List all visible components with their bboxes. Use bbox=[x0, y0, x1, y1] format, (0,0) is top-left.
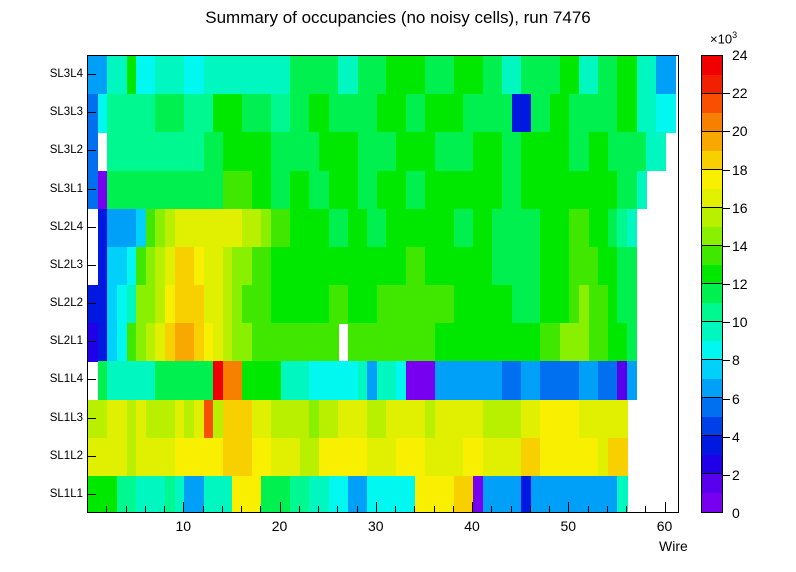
color-scale-tick bbox=[723, 284, 730, 285]
heatmap-cell bbox=[627, 361, 637, 400]
x-axis-tick-label: 10 bbox=[175, 518, 191, 534]
x-axis-major-tick bbox=[665, 502, 666, 513]
x-axis-minor-tick bbox=[530, 506, 531, 513]
color-scale-bar bbox=[701, 55, 723, 513]
heatmap-cell bbox=[666, 94, 676, 133]
color-scale-tick bbox=[723, 399, 730, 400]
y-axis-labels: SL3L4SL3L3SL3L2SL3L1SL2L4SL2L3SL2L2SL2L1… bbox=[0, 0, 83, 572]
color-scale-segment bbox=[702, 170, 722, 190]
color-scale-tick-label: 14 bbox=[732, 238, 748, 254]
x-axis-minor-tick bbox=[453, 506, 454, 513]
x-axis-minor-tick bbox=[414, 506, 415, 513]
color-scale-segment bbox=[702, 493, 722, 513]
color-scale-tick bbox=[723, 131, 730, 132]
y-axis-tick bbox=[87, 74, 96, 75]
color-scale-tick bbox=[723, 322, 730, 323]
x-axis-tick-label: 30 bbox=[368, 518, 384, 534]
y-axis-tick-label: SL2L1 bbox=[50, 335, 83, 347]
x-axis-tick-label: 50 bbox=[561, 518, 577, 534]
color-scale-tick-label: 22 bbox=[732, 85, 748, 101]
color-scale-divider bbox=[702, 245, 722, 246]
heatmap-plot-area[interactable] bbox=[87, 55, 679, 513]
x-axis-minor-tick bbox=[222, 506, 223, 513]
color-scale-segment bbox=[702, 303, 722, 323]
color-scale-tick-label: 10 bbox=[732, 314, 748, 330]
heatmap-cell bbox=[627, 285, 637, 324]
y-axis-tick-label: SL1L4 bbox=[50, 373, 83, 385]
x-axis-minor-tick bbox=[491, 506, 492, 513]
root-canvas: Summary of occupancies (no noisy cells),… bbox=[0, 0, 796, 572]
page-title: Summary of occupancies (no noisy cells),… bbox=[0, 8, 796, 28]
x-axis-minor-tick bbox=[164, 506, 165, 513]
color-scale-tick-label: 20 bbox=[732, 123, 748, 139]
y-axis-tick bbox=[87, 112, 96, 113]
color-scale-tick-label: 18 bbox=[732, 162, 748, 178]
color-scale-segment bbox=[702, 132, 722, 152]
heatmap-cell bbox=[666, 56, 676, 95]
x-axis-minor-tick bbox=[337, 506, 338, 513]
y-axis-tick bbox=[87, 189, 96, 190]
color-scale-exponent: ×103 bbox=[710, 30, 737, 46]
color-scale-tick-label: 8 bbox=[732, 352, 740, 368]
color-scale-segment bbox=[702, 322, 722, 342]
color-scale-segment bbox=[702, 398, 722, 418]
color-scale-segment bbox=[702, 341, 722, 361]
x-axis-tick-label: 20 bbox=[272, 518, 288, 534]
x-axis-title: Wire bbox=[659, 538, 688, 554]
heatmap-cell bbox=[656, 132, 666, 171]
color-scale-segment bbox=[702, 227, 722, 247]
color-scale-divider bbox=[702, 359, 722, 360]
x-axis-tick-label: 40 bbox=[464, 518, 480, 534]
y-axis-tick bbox=[87, 379, 96, 380]
x-axis-minor-tick bbox=[299, 506, 300, 513]
heatmap-cell bbox=[637, 171, 647, 210]
y-axis-tick bbox=[87, 418, 96, 419]
color-scale-segment bbox=[702, 56, 722, 76]
color-scale-tick-label: 4 bbox=[732, 429, 740, 445]
y-axis-tick-label: SL2L2 bbox=[50, 297, 83, 309]
color-scale-segment bbox=[702, 151, 722, 171]
color-scale-tick-label: 24 bbox=[732, 47, 748, 63]
color-scale-divider bbox=[702, 283, 722, 284]
color-scale-tick-label: 12 bbox=[732, 276, 748, 292]
color-scale-divider bbox=[702, 473, 722, 474]
x-axis-minor-tick bbox=[588, 506, 589, 513]
color-scale-tick bbox=[723, 437, 730, 438]
heatmap-cell bbox=[627, 323, 637, 362]
heatmap-cells bbox=[88, 56, 678, 512]
x-axis-minor-tick bbox=[203, 506, 204, 513]
y-axis-tick bbox=[87, 341, 96, 342]
color-scale-tick bbox=[723, 475, 730, 476]
color-scale-segment bbox=[702, 436, 722, 456]
x-axis-minor-tick bbox=[145, 506, 146, 513]
y-axis-tick bbox=[87, 227, 96, 228]
color-scale-segment bbox=[702, 379, 722, 399]
y-axis-tick bbox=[87, 303, 96, 304]
color-scale-divider bbox=[702, 169, 722, 170]
color-scale-tick-label: 0 bbox=[732, 505, 740, 521]
x-axis-major-tick bbox=[472, 502, 473, 513]
x-axis-minor-tick bbox=[434, 506, 435, 513]
heatmap-cell bbox=[627, 209, 637, 248]
color-scale-tick-label: 2 bbox=[732, 467, 740, 483]
color-scale-segment bbox=[702, 113, 722, 133]
y-axis-tick bbox=[87, 456, 96, 457]
heatmap-cell bbox=[617, 400, 627, 439]
color-scale-divider bbox=[702, 435, 722, 436]
color-scale-tick bbox=[723, 208, 730, 209]
color-scale-segment bbox=[702, 265, 722, 285]
x-axis-major-tick bbox=[183, 502, 184, 513]
x-axis-major-tick bbox=[280, 502, 281, 513]
y-axis-tick bbox=[87, 494, 96, 495]
y-axis-tick bbox=[87, 150, 96, 151]
heatmap-cell bbox=[617, 438, 627, 477]
y-axis-tick-label: SL1L2 bbox=[50, 450, 83, 462]
y-axis-tick-label: SL3L2 bbox=[50, 144, 83, 156]
y-axis-tick-label: SL3L3 bbox=[50, 106, 83, 118]
x-axis-minor-tick bbox=[106, 506, 107, 513]
y-axis-tick-label: SL2L3 bbox=[50, 259, 83, 271]
color-scale-divider bbox=[702, 131, 722, 132]
x-axis-minor-tick bbox=[607, 506, 608, 513]
color-scale-tick-label: 6 bbox=[732, 391, 740, 407]
y-axis-tick-label: SL3L4 bbox=[50, 68, 83, 80]
x-axis-minor-tick bbox=[241, 506, 242, 513]
y-axis-tick-label: SL2L4 bbox=[50, 221, 83, 233]
color-scale-divider bbox=[702, 397, 722, 398]
x-axis-tick-label: 60 bbox=[657, 518, 673, 534]
color-scale-segment bbox=[702, 208, 722, 228]
x-axis-minor-tick bbox=[395, 506, 396, 513]
color-scale-tick bbox=[723, 93, 730, 94]
x-axis-minor-tick bbox=[626, 506, 627, 513]
color-scale-segment bbox=[702, 284, 722, 304]
x-axis-minor-tick bbox=[549, 506, 550, 513]
x-axis-minor-tick bbox=[126, 506, 127, 513]
color-scale-divider bbox=[702, 321, 722, 322]
color-scale-segment bbox=[702, 360, 722, 380]
color-scale-tick bbox=[723, 246, 730, 247]
color-scale-tick bbox=[723, 360, 730, 361]
x-axis-minor-tick bbox=[645, 506, 646, 513]
y-axis-tick-label: SL1L1 bbox=[50, 488, 83, 500]
x-axis-minor-tick bbox=[357, 506, 358, 513]
x-axis-minor-tick bbox=[511, 506, 512, 513]
color-scale-divider bbox=[702, 207, 722, 208]
color-scale-tick-label: 16 bbox=[732, 200, 748, 216]
color-scale-segment bbox=[702, 455, 722, 475]
heatmap-cell bbox=[627, 247, 637, 286]
color-scale-segment bbox=[702, 474, 722, 494]
color-scale-segment bbox=[702, 75, 722, 95]
color-scale-segment bbox=[702, 417, 722, 437]
color-scale-tick bbox=[723, 170, 730, 171]
color-scale-segment bbox=[702, 189, 722, 209]
color-scale-segment bbox=[702, 94, 722, 114]
x-axis-minor-tick bbox=[318, 506, 319, 513]
x-axis-major-tick bbox=[376, 502, 377, 513]
x-axis-minor-tick bbox=[260, 506, 261, 513]
heatmap-cell bbox=[329, 323, 339, 362]
y-axis-tick-label: SL1L3 bbox=[50, 412, 83, 424]
x-axis-major-tick bbox=[568, 502, 569, 513]
heatmap-cell bbox=[88, 132, 98, 171]
color-scale-divider bbox=[702, 93, 722, 94]
y-axis-tick bbox=[87, 265, 96, 266]
y-axis-tick-label: SL3L1 bbox=[50, 183, 83, 195]
color-scale-segment bbox=[702, 246, 722, 266]
